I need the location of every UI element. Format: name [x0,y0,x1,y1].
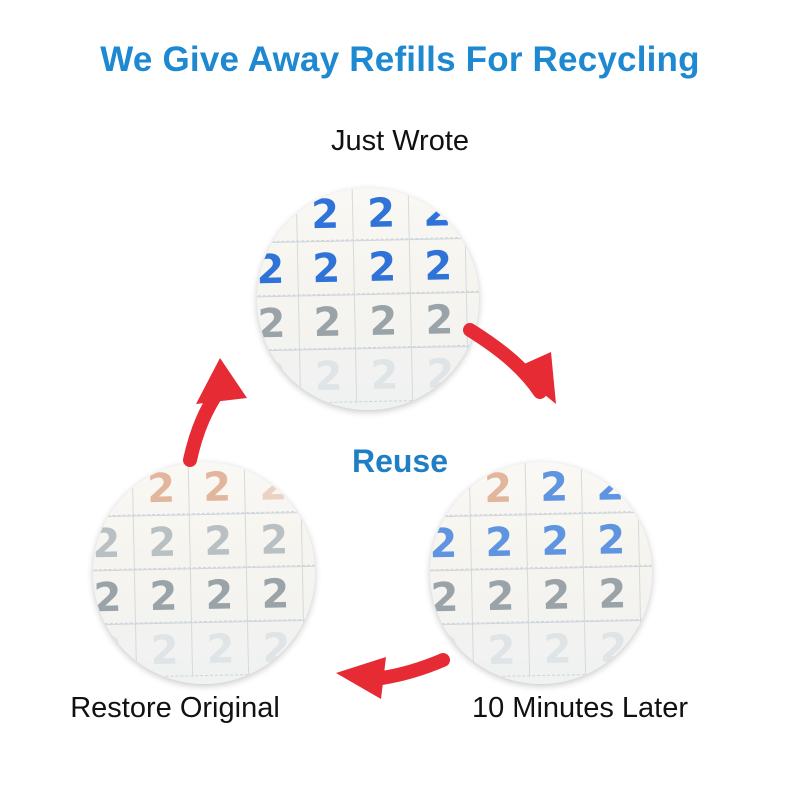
sheet-glyph: 2 [192,622,249,677]
sheet-glyph: 2 [93,516,135,571]
sheet-glyph: 2 [299,295,356,350]
practice-sheet: 2 2 2 2 2 2 2 2 2 2 2 2 2 2 2 2 [93,462,315,684]
sheet-cell: 2 [248,621,305,676]
sheet-glyph: 2 [257,242,299,297]
photo-ten-minutes-later: 2 2 2 2 2 2 2 2 2 2 2 2 2 2 2 2 [430,462,652,684]
sheet-cell: 2 [93,570,136,625]
sheet-cell: 2 [298,241,355,296]
sheet-row: 2 2 2 2 [257,291,479,350]
sheet-cell: 2 [93,624,137,679]
sheet-cell: 2 [473,623,530,678]
sheet-glyph: 2 [471,515,528,570]
sheet-row: 2 2 2 2 [93,511,315,570]
sheet-cell: 2 [430,516,472,571]
sheet-cell: 2 [430,624,474,679]
center-label-reuse: Reuse [0,443,800,480]
sheet-glyph: 2 [298,241,355,296]
sheet-cell: 2 [410,239,467,294]
sheet-glyph: 2 [136,623,193,678]
practice-sheet: 2 2 2 2 2 2 2 2 2 2 2 2 2 2 2 2 [257,188,479,410]
sheet-glyph: 2 [583,513,640,568]
sheet-glyph: 2 [297,188,354,242]
caption-just-wrote: Just Wrote [0,125,800,158]
sheet-row: 2 2 2 2 [430,565,652,624]
sheet-cell: 2 [430,570,473,625]
sheet-glyph: 2 [93,624,137,679]
sheet-glyph: 2 [190,514,247,569]
sheet-glyph: 2 [585,621,642,676]
sheet-cell: 2 [191,568,248,623]
sheet-cell: 2 [411,293,468,348]
page-title: We Give Away Refills For Recycling [0,40,800,80]
sheet-cell: 2 [134,515,191,570]
sheet-cell: 2 [528,568,585,623]
sheet-glyph: 2 [191,568,248,623]
sheet-cell: 2 [299,295,356,350]
sheet-glyph: 2 [473,623,530,678]
sheet-glyph: 2 [93,570,136,625]
sheet-glyph: 2 [257,350,301,405]
sheet-glyph: 2 [430,570,473,625]
sheet-cell: 2 [247,567,304,622]
sheet-glyph: 2 [134,515,191,570]
sheet-cell: 2 [471,515,528,570]
sheet-glyph: 2 [353,188,410,241]
sheet-glyph: 2 [355,294,412,349]
sheet-glyph: 2 [300,349,357,404]
sheet-cell: 2 [93,516,135,571]
sheet-row: 2 2 2 2 [257,237,479,296]
sheet-glyph: 2 [356,348,413,403]
sheet-cell: 2 [527,514,584,569]
sheet-cell: 2 [257,350,301,405]
sheet-cell: 2 [356,348,413,403]
sheet-cell: 2 [135,569,192,624]
sheet-cell: 2 [257,189,298,244]
practice-sheet: 2 2 2 2 2 2 2 2 2 2 2 2 2 2 2 2 [430,462,652,684]
sheet-cell: 2 [297,188,354,242]
arrow-top-to-right-icon [470,330,556,404]
sheet-glyph: 2 [257,296,300,351]
sheet-glyph: 2 [257,189,298,244]
sheet-cell: 2 [257,242,299,297]
sheet-glyph: 2 [528,568,585,623]
sheet-cell: 2 [412,347,469,402]
sheet-glyph: 2 [584,567,641,622]
sheet-cell: 2 [354,240,411,295]
sheet-row: 2 2 2 2 [257,188,479,243]
sheet-cell: 2 [353,188,410,241]
sheet-cell: 2 [529,622,586,677]
sheet-glyph: 2 [472,569,529,624]
sheet-glyph: 2 [409,188,466,240]
sheet-cell: 2 [190,514,247,569]
sheet-cell: 2 [136,623,193,678]
sheet-glyph: 2 [529,622,586,677]
sheet-cell: 2 [585,621,642,676]
sheet-row: 2 2 2 2 [93,619,315,678]
sheet-row: 2 2 2 2 [430,511,652,570]
sheet-cell: 2 [409,188,466,240]
sheet-glyph: 2 [247,567,304,622]
sheet-glyph: 2 [248,621,305,676]
caption-restore-original: Restore Original [10,692,340,725]
sheet-glyph: 2 [527,514,584,569]
sheet-cell: 2 [355,294,412,349]
sheet-glyph: 2 [411,293,468,348]
diagram-canvas: We Give Away Refills For Recycling Just … [0,0,800,800]
sheet-cell: 2 [300,349,357,404]
sheet-glyph: 2 [135,569,192,624]
caption-ten-minutes-later: 10 Minutes Later [400,692,760,725]
sheet-cell: 2 [257,296,300,351]
sheet-glyph: 2 [412,347,469,402]
sheet-cell: 2 [583,513,640,568]
photo-just-wrote: 2 2 2 2 2 2 2 2 2 2 2 2 2 2 2 2 [257,188,479,410]
sheet-glyph: 2 [430,624,474,679]
sheet-row: 2 2 2 2 [257,345,479,404]
sheet-glyph: 2 [410,239,467,294]
sheet-cell: 2 [584,567,641,622]
photo-restore-original: 2 2 2 2 2 2 2 2 2 2 2 2 2 2 2 2 [93,462,315,684]
sheet-glyph: 2 [354,240,411,295]
sheet-cell: 2 [192,622,249,677]
sheet-glyph: 2 [430,516,472,571]
sheet-glyph: 2 [246,513,303,568]
sheet-cell: 2 [246,513,303,568]
sheet-cell: 2 [472,569,529,624]
sheet-row: 2 2 2 2 [93,565,315,624]
sheet-row: 2 2 2 2 [430,619,652,678]
